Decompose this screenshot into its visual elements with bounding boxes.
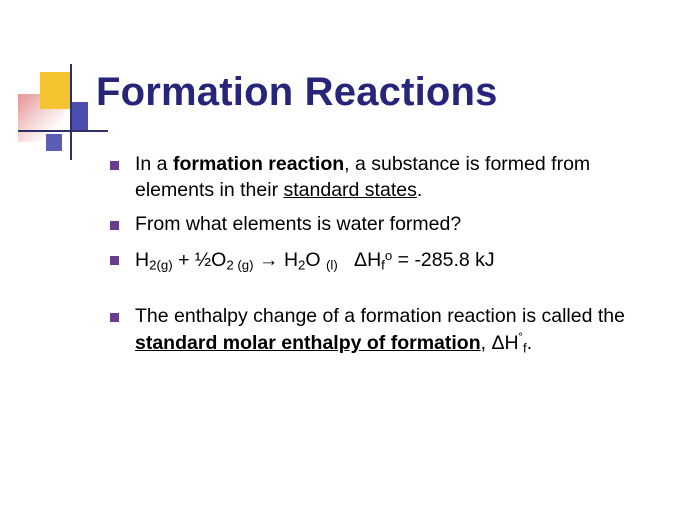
horizontal-rule	[18, 130, 108, 132]
bullet-list: In a formation reaction, a substance is …	[110, 152, 670, 366]
yellow-square	[40, 72, 70, 109]
vertical-rule	[70, 64, 72, 160]
list-item: From what elements is water formed?	[110, 212, 670, 238]
bullet-marker-icon	[110, 256, 119, 265]
bullet-marker-icon	[110, 161, 119, 170]
slide: Formation Reactions In a formation react…	[0, 0, 700, 525]
bullet-marker-icon	[110, 221, 119, 230]
decorative-logo	[18, 64, 108, 160]
page-title: Formation Reactions	[96, 70, 676, 114]
list-item-equation: H2(g) + ½O2 (g) → H2O (l) ΔHfo = -285.8 …	[110, 247, 670, 274]
bullet-text-enthalpy-change: The enthalpy change of a formation react…	[135, 304, 670, 357]
list-item: In a formation reaction, a substance is …	[110, 152, 670, 203]
small-blue-square	[46, 134, 62, 151]
bullet-marker-icon	[110, 313, 119, 322]
blue-square	[70, 102, 88, 132]
bullet-text-question: From what elements is water formed?	[135, 212, 670, 238]
list-item: The enthalpy change of a formation react…	[110, 304, 670, 357]
bullet-text-definition: In a formation reaction, a substance is …	[135, 152, 670, 203]
bullet-text-equation: H2(g) + ½O2 (g) → H2O (l) ΔHfo = -285.8 …	[135, 247, 670, 274]
